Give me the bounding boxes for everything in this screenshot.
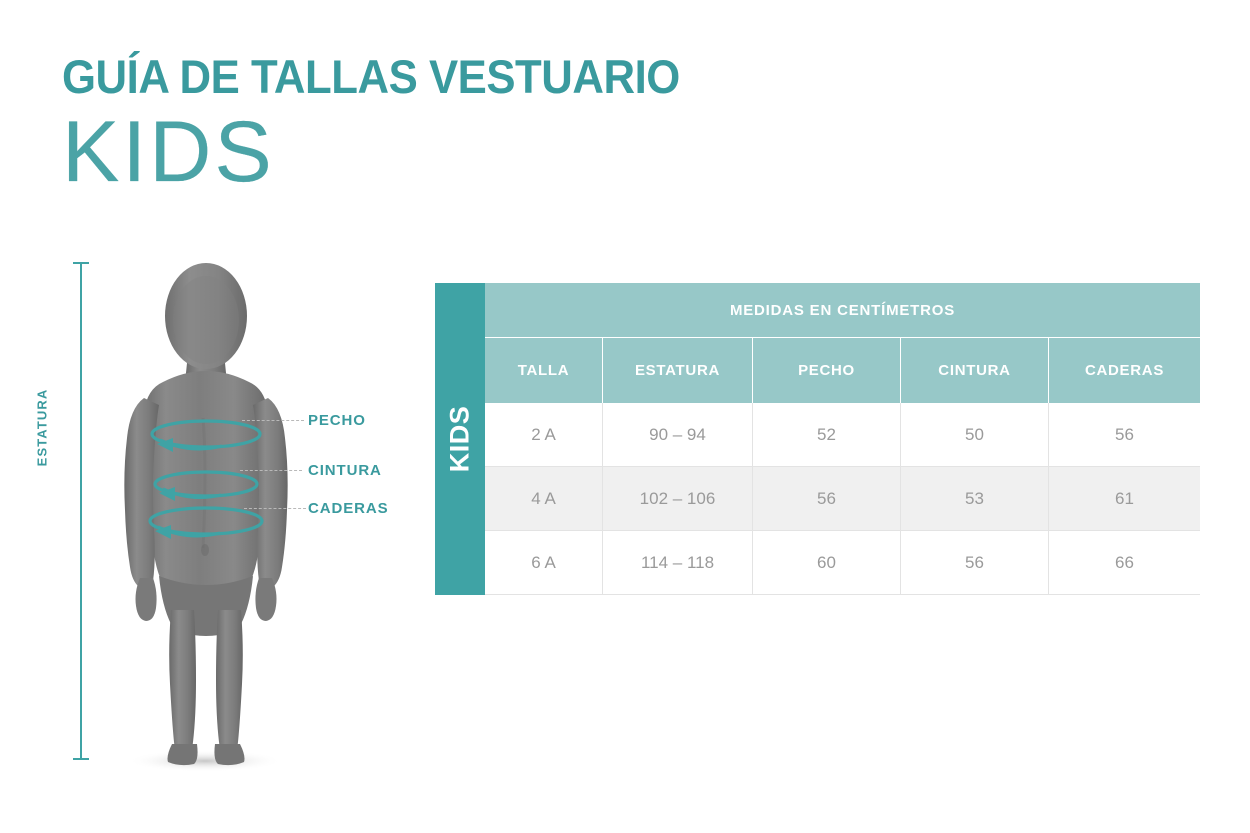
cell-pecho: 52 (753, 403, 901, 467)
cell-cintura: 56 (901, 531, 1049, 595)
cell-talla: 6 A (485, 531, 603, 595)
page-subtitle: KIDS (62, 107, 275, 197)
column-header-caderas: CADERAS (1049, 338, 1200, 403)
table-header-row: TALLA ESTATURA PECHO CINTURA CADERAS (485, 338, 1200, 403)
units-banner: MEDIDAS EN CENTÍMETROS (485, 283, 1200, 338)
cell-caderas: 61 (1049, 467, 1200, 531)
column-header-pecho: PECHO (753, 338, 901, 403)
leader-line-waist (240, 470, 302, 471)
table-side-label-column: KIDS (435, 283, 485, 595)
measurement-label-waist: CINTURA (308, 462, 382, 479)
cell-estatura: 90 – 94 (603, 403, 753, 467)
cell-caderas: 56 (1049, 403, 1200, 467)
table-row: 2 A 90 – 94 52 50 56 (485, 403, 1200, 467)
leader-line-chest (242, 420, 304, 421)
cell-talla: 2 A (485, 403, 603, 467)
cell-estatura: 102 – 106 (603, 467, 753, 531)
measurement-label-chest: PECHO (308, 412, 366, 429)
cell-pecho: 56 (753, 467, 901, 531)
page-title: GUÍA DE TALLAS VESTUARIO (62, 49, 680, 104)
cell-talla: 4 A (485, 467, 603, 531)
table-row: 4 A 102 – 106 56 53 61 (485, 467, 1200, 531)
cell-pecho: 60 (753, 531, 901, 595)
cell-caderas: 66 (1049, 531, 1200, 595)
cell-cintura: 53 (901, 467, 1049, 531)
height-label: ESTATURA (35, 353, 50, 503)
cell-cintura: 50 (901, 403, 1049, 467)
table-side-label: KIDS (445, 406, 476, 473)
table-grid: MEDIDAS EN CENTÍMETROS TALLA ESTATURA PE… (485, 283, 1200, 595)
column-header-talla: TALLA (485, 338, 603, 403)
table-row: 6 A 114 – 118 60 56 66 (485, 531, 1200, 595)
size-guide-infographic: GUÍA DE TALLAS VESTUARIO KIDS ESTATURA (0, 0, 1250, 833)
leader-line-hips (244, 508, 306, 509)
cell-estatura: 114 – 118 (603, 531, 753, 595)
column-header-estatura: ESTATURA (603, 338, 753, 403)
measurement-label-hips: CADERAS (308, 500, 388, 517)
ruler-line (80, 262, 82, 760)
size-table: KIDS MEDIDAS EN CENTÍMETROS TALLA ESTATU… (435, 283, 1200, 595)
column-header-cintura: CINTURA (901, 338, 1049, 403)
child-mannequin-figure (85, 258, 335, 773)
